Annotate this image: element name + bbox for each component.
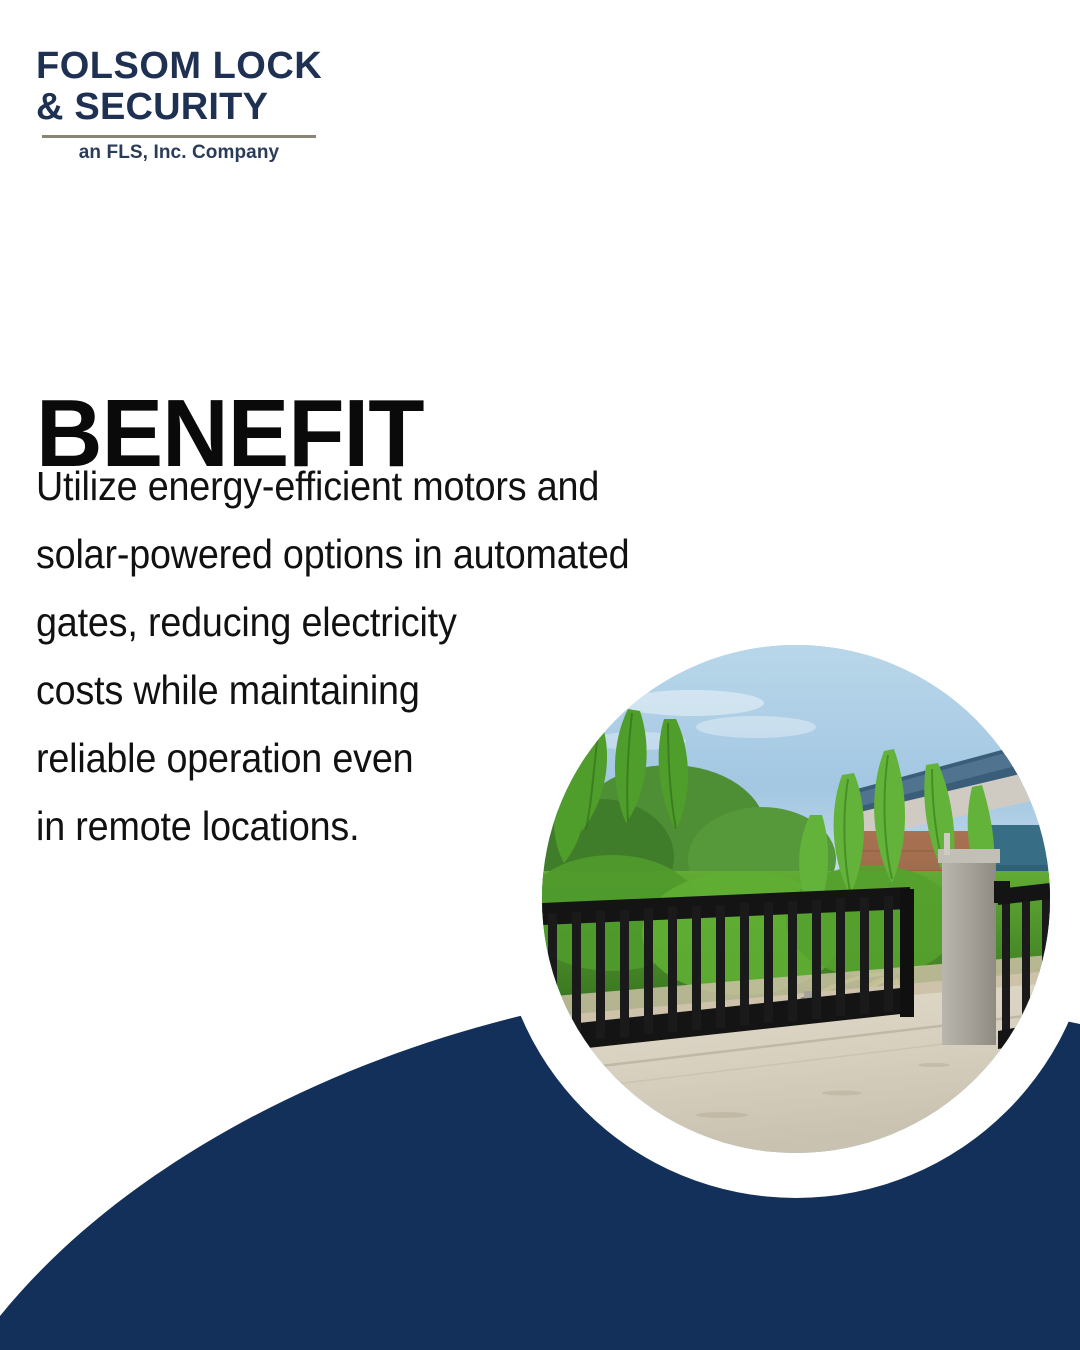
logo-tagline: an FLS, Inc. Company [36, 142, 322, 164]
logo-line-2: & SECURITY [36, 87, 322, 128]
logo-divider-rule [42, 135, 316, 138]
gate-photo [542, 645, 1050, 1153]
body-line: solar-powered options in automated [36, 520, 744, 588]
logo-line-1: FOLSOM LOCK [36, 46, 322, 87]
post-canvas: FOLSOM LOCK & SECURITY an FLS, Inc. Comp… [0, 0, 1080, 1350]
brand-logo: FOLSOM LOCK & SECURITY an FLS, Inc. Comp… [36, 46, 322, 164]
body-line: Utilize energy-efficient motors and [36, 452, 744, 520]
gate-photo-inner [542, 645, 1050, 1153]
